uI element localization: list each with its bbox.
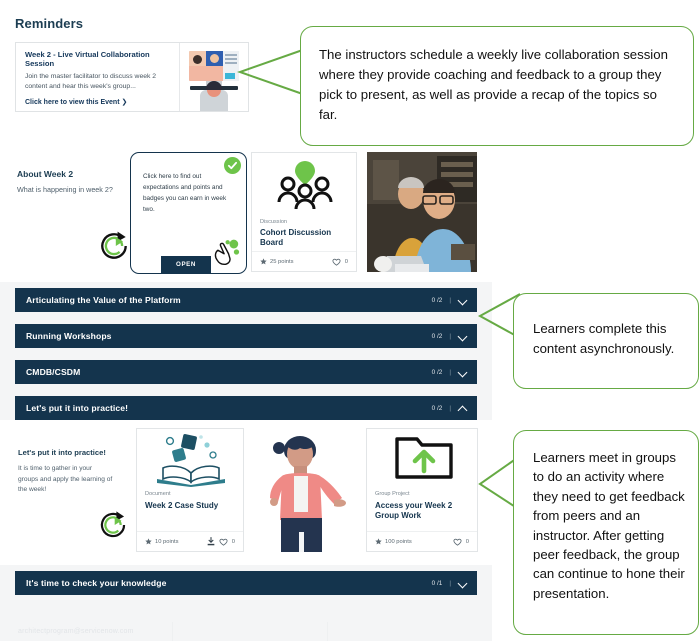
reminder-card[interactable]: Week 2 - Live Virtual Collaboration Sess…: [15, 42, 249, 112]
accordion-label: Let's put it into practice!: [26, 403, 128, 413]
document-card[interactable]: Document Week 2 Case Study 10 points 0: [136, 428, 244, 552]
accordion-divider: |: [449, 405, 451, 412]
avatar-2: [210, 54, 219, 63]
accordion-lets-put-it-into-practice[interactable]: Let's put it into practice! 0 /2 |: [15, 396, 477, 420]
pointing-hand-icon: [210, 237, 240, 267]
about-week-title: About Week 2: [17, 169, 73, 179]
chevron-up-icon[interactable]: [458, 404, 467, 413]
star-icon: [145, 538, 152, 545]
reminder-event-link[interactable]: Click here to view this Event ❯: [25, 98, 171, 106]
group-type-label: Group Project: [375, 491, 410, 497]
accordion-cmdb-csdm[interactable]: CMDB/CSDM 0 /2 |: [15, 360, 477, 384]
chevron-down-icon[interactable]: [458, 368, 467, 377]
reminders-heading: Reminders: [15, 16, 83, 31]
woman-presenting-illustration: [264, 424, 348, 552]
discussion-card[interactable]: Discussion Cohort Discussion Board 25 po…: [251, 152, 357, 272]
discussion-likes: 0: [345, 259, 348, 265]
points-group: 10 points: [145, 538, 179, 545]
practice-title: Let's put it into practice!: [18, 448, 106, 457]
heart-icon[interactable]: [453, 538, 462, 546]
likes-group[interactable]: 0: [332, 258, 348, 266]
video-tile-3: [189, 66, 223, 81]
heart-icon[interactable]: [219, 538, 228, 546]
accordion-divider: |: [449, 580, 451, 587]
group-points: 100 points: [385, 539, 412, 545]
chevron-down-icon[interactable]: [458, 296, 467, 305]
accordion-running-workshops[interactable]: Running Workshops 0 /2 |: [15, 324, 477, 348]
open-book-icon: [137, 429, 243, 487]
callout-group-activity: Learners meet in groups to do an activit…: [513, 430, 699, 635]
star-icon: [260, 258, 267, 265]
accordion-check-your-knowledge[interactable]: It's time to check your knowledge 0 /1 |: [15, 571, 477, 595]
callout-text: Learners meet in groups to do an activit…: [533, 448, 686, 603]
group-project-card[interactable]: Group Project Access your Week 2 Group W…: [366, 428, 478, 552]
chevron-down-icon[interactable]: [458, 579, 467, 588]
accordion-status: 0 /2 |: [432, 404, 467, 413]
accordion-label: CMDB/CSDM: [26, 367, 80, 377]
reminder-title: Week 2 - Live Virtual Collaboration Sess…: [25, 50, 171, 69]
footer-divider-1: [172, 622, 173, 641]
monitor-screen: [189, 51, 239, 81]
reminder-description: Join the master facilitator to discuss w…: [25, 72, 171, 91]
accordion-status: 0 /1 |: [432, 579, 467, 588]
accordion-count: 0 /1: [432, 580, 443, 587]
about-week-subtitle: What is happening in week 2?: [17, 185, 113, 194]
accordion-label: It's time to check your knowledge: [26, 578, 167, 588]
about-tile-text: Click here to find out expectations and …: [143, 171, 229, 215]
accordion-count: 0 /2: [432, 297, 443, 304]
avatar-1: [193, 55, 202, 64]
accordion-articulating-value[interactable]: Articulating the Value of the Platform 0…: [15, 288, 477, 312]
document-card-meta: 10 points 0: [137, 531, 243, 551]
accordion-divider: |: [449, 369, 451, 376]
discussion-type-label: Discussion: [260, 219, 287, 225]
chevron-down-icon[interactable]: [458, 332, 467, 341]
accordion-label: Running Workshops: [26, 331, 112, 341]
download-icon[interactable]: [207, 537, 215, 546]
accordion-status: 0 /2 |: [432, 368, 467, 377]
document-likes: 0: [232, 539, 235, 545]
folder-upload-icon: [367, 429, 477, 487]
refresh-arrow-icon: [96, 508, 130, 542]
heart-icon[interactable]: [332, 258, 341, 266]
accordion-count: 0 /2: [432, 333, 443, 340]
open-button[interactable]: OPEN: [161, 256, 211, 273]
two-men-at-laptop-photo: [367, 152, 477, 272]
callout-text: Learners complete this content asynchron…: [533, 319, 698, 359]
accordion-count: 0 /2: [432, 405, 443, 412]
discussion-points: 25 points: [270, 259, 294, 265]
accordion-count: 0 /2: [432, 369, 443, 376]
callout-instructors-schedule: The instructors schedule a weekly live c…: [300, 26, 694, 146]
reminder-text-column: Week 2 - Live Virtual Collaboration Sess…: [16, 43, 179, 111]
document-card-title: Week 2 Case Study: [145, 501, 237, 511]
accordion-label: Articulating the Value of the Platform: [26, 295, 181, 305]
sidebar-button: [225, 73, 235, 79]
likes-group[interactable]: 0: [453, 538, 469, 546]
callout-asynchronous: Learners complete this content asynchron…: [513, 293, 699, 389]
green-check-badge-icon: [224, 157, 241, 174]
document-actions[interactable]: 0: [207, 537, 235, 546]
group-likes: 0: [466, 539, 469, 545]
footer-divider-2: [327, 622, 328, 641]
document-points: 10 points: [155, 539, 179, 545]
discussion-card-meta: 25 points 0: [252, 251, 356, 271]
refresh-arrow-icon: [96, 228, 132, 264]
practice-description: It is time to gather in your groups and …: [18, 464, 114, 496]
footer-email: architectprogram@servicenow.com: [18, 628, 134, 635]
points-group: 25 points: [260, 258, 294, 265]
document-type-label: Document: [145, 491, 171, 497]
about-week-tile[interactable]: Click here to find out expectations and …: [130, 152, 247, 274]
callout-text: The instructors schedule a weekly live c…: [319, 45, 675, 125]
group-people-icon: [252, 153, 356, 215]
viewer-hair: [206, 81, 222, 90]
group-card-meta: 100 points 0: [367, 531, 477, 551]
accordion-divider: |: [449, 297, 451, 304]
accordion-divider: |: [449, 333, 451, 340]
star-icon: [375, 538, 382, 545]
points-group: 100 points: [375, 538, 412, 545]
accordion-status: 0 /2 |: [432, 332, 467, 341]
accordion-status: 0 /2 |: [432, 296, 467, 305]
discussion-card-title: Cohort Discussion Board: [260, 228, 352, 247]
group-card-title: Access your Week 2 Group Work: [375, 501, 471, 520]
